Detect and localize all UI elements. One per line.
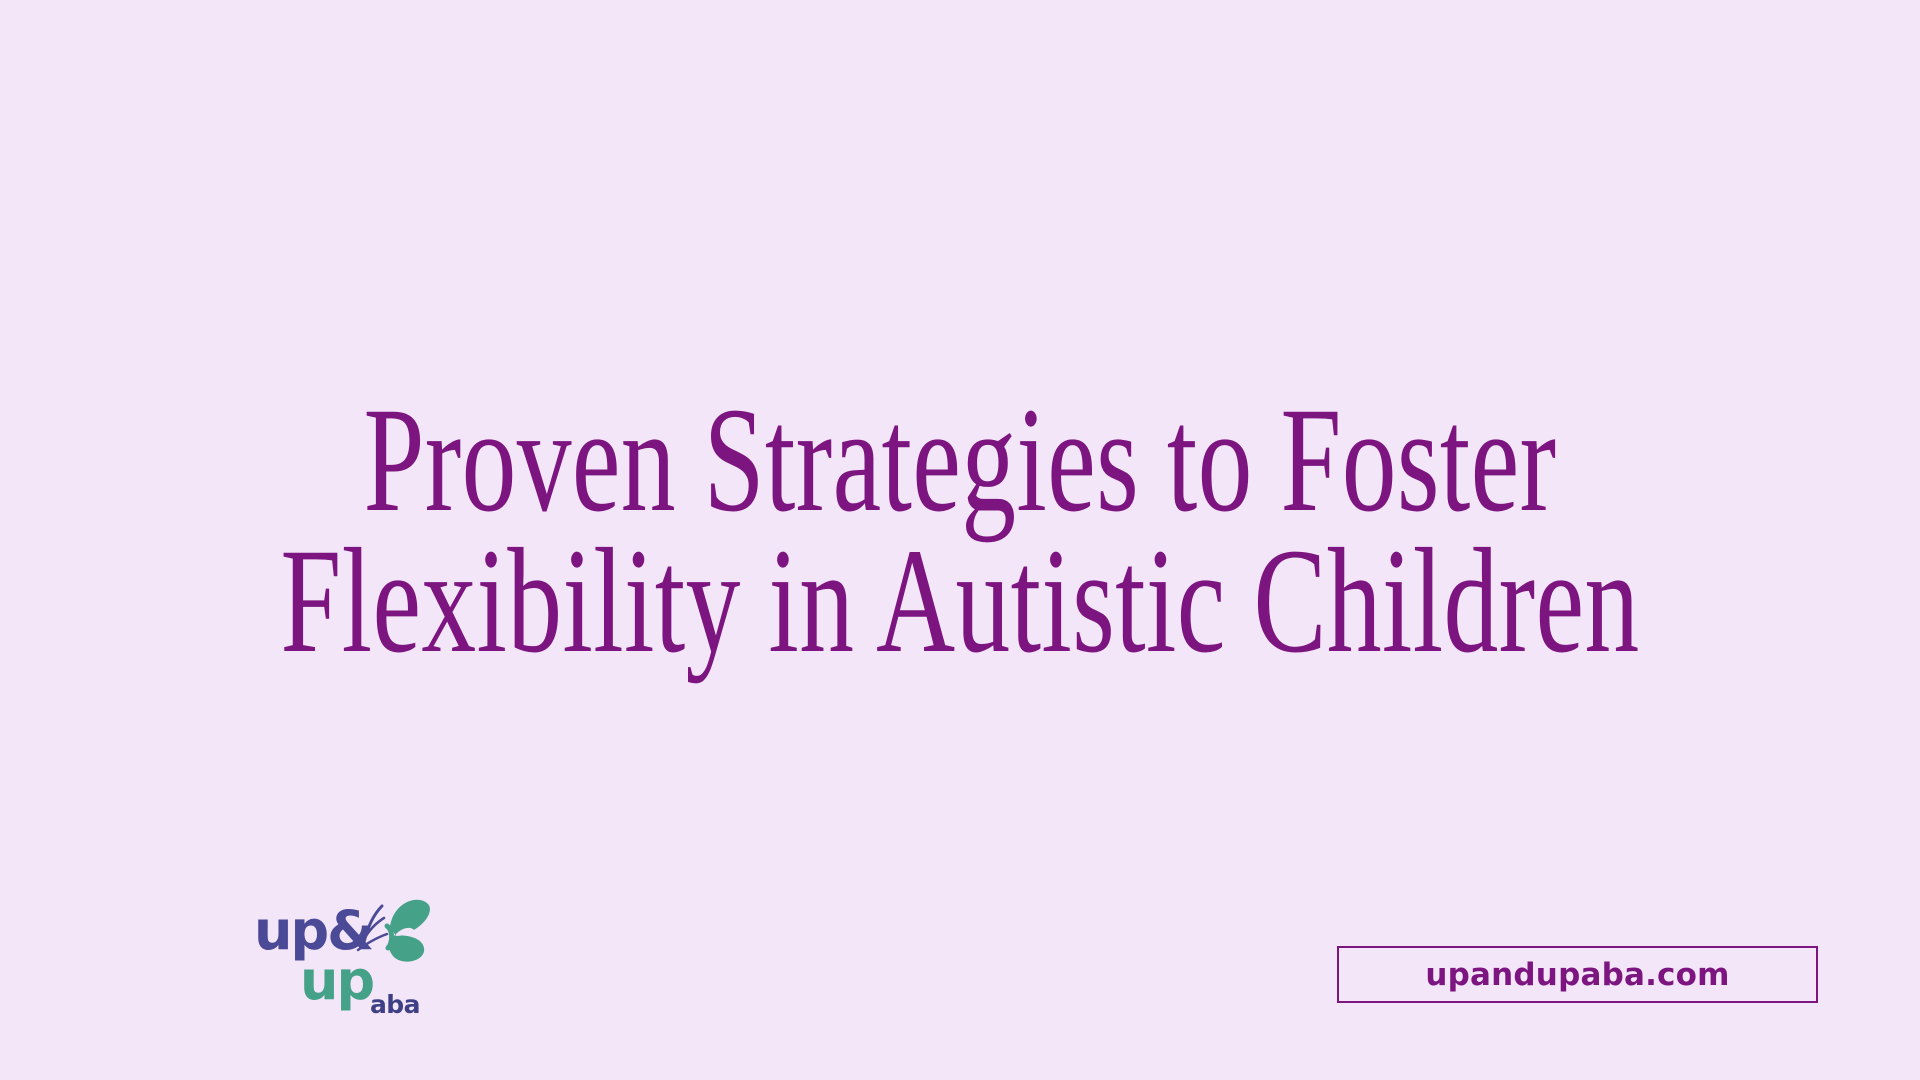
title-line-2: Flexibility in Autistic Children — [259, 525, 1661, 678]
page-title: Proven Strategies to Foster Flexibility … — [0, 384, 1920, 678]
title-line-1: Proven Strategies to Foster — [259, 384, 1661, 537]
brand-logo[interactable]: up& up aba — [252, 896, 432, 1032]
logo-word-aba: aba — [370, 992, 420, 1017]
website-url-badge[interactable]: upandupaba.com — [1337, 946, 1818, 1003]
title-card-canvas: Proven Strategies to Foster Flexibility … — [0, 0, 1920, 1080]
website-url-label: upandupaba.com — [1425, 957, 1729, 993]
logo-word-up-bottom: up — [300, 954, 373, 1008]
